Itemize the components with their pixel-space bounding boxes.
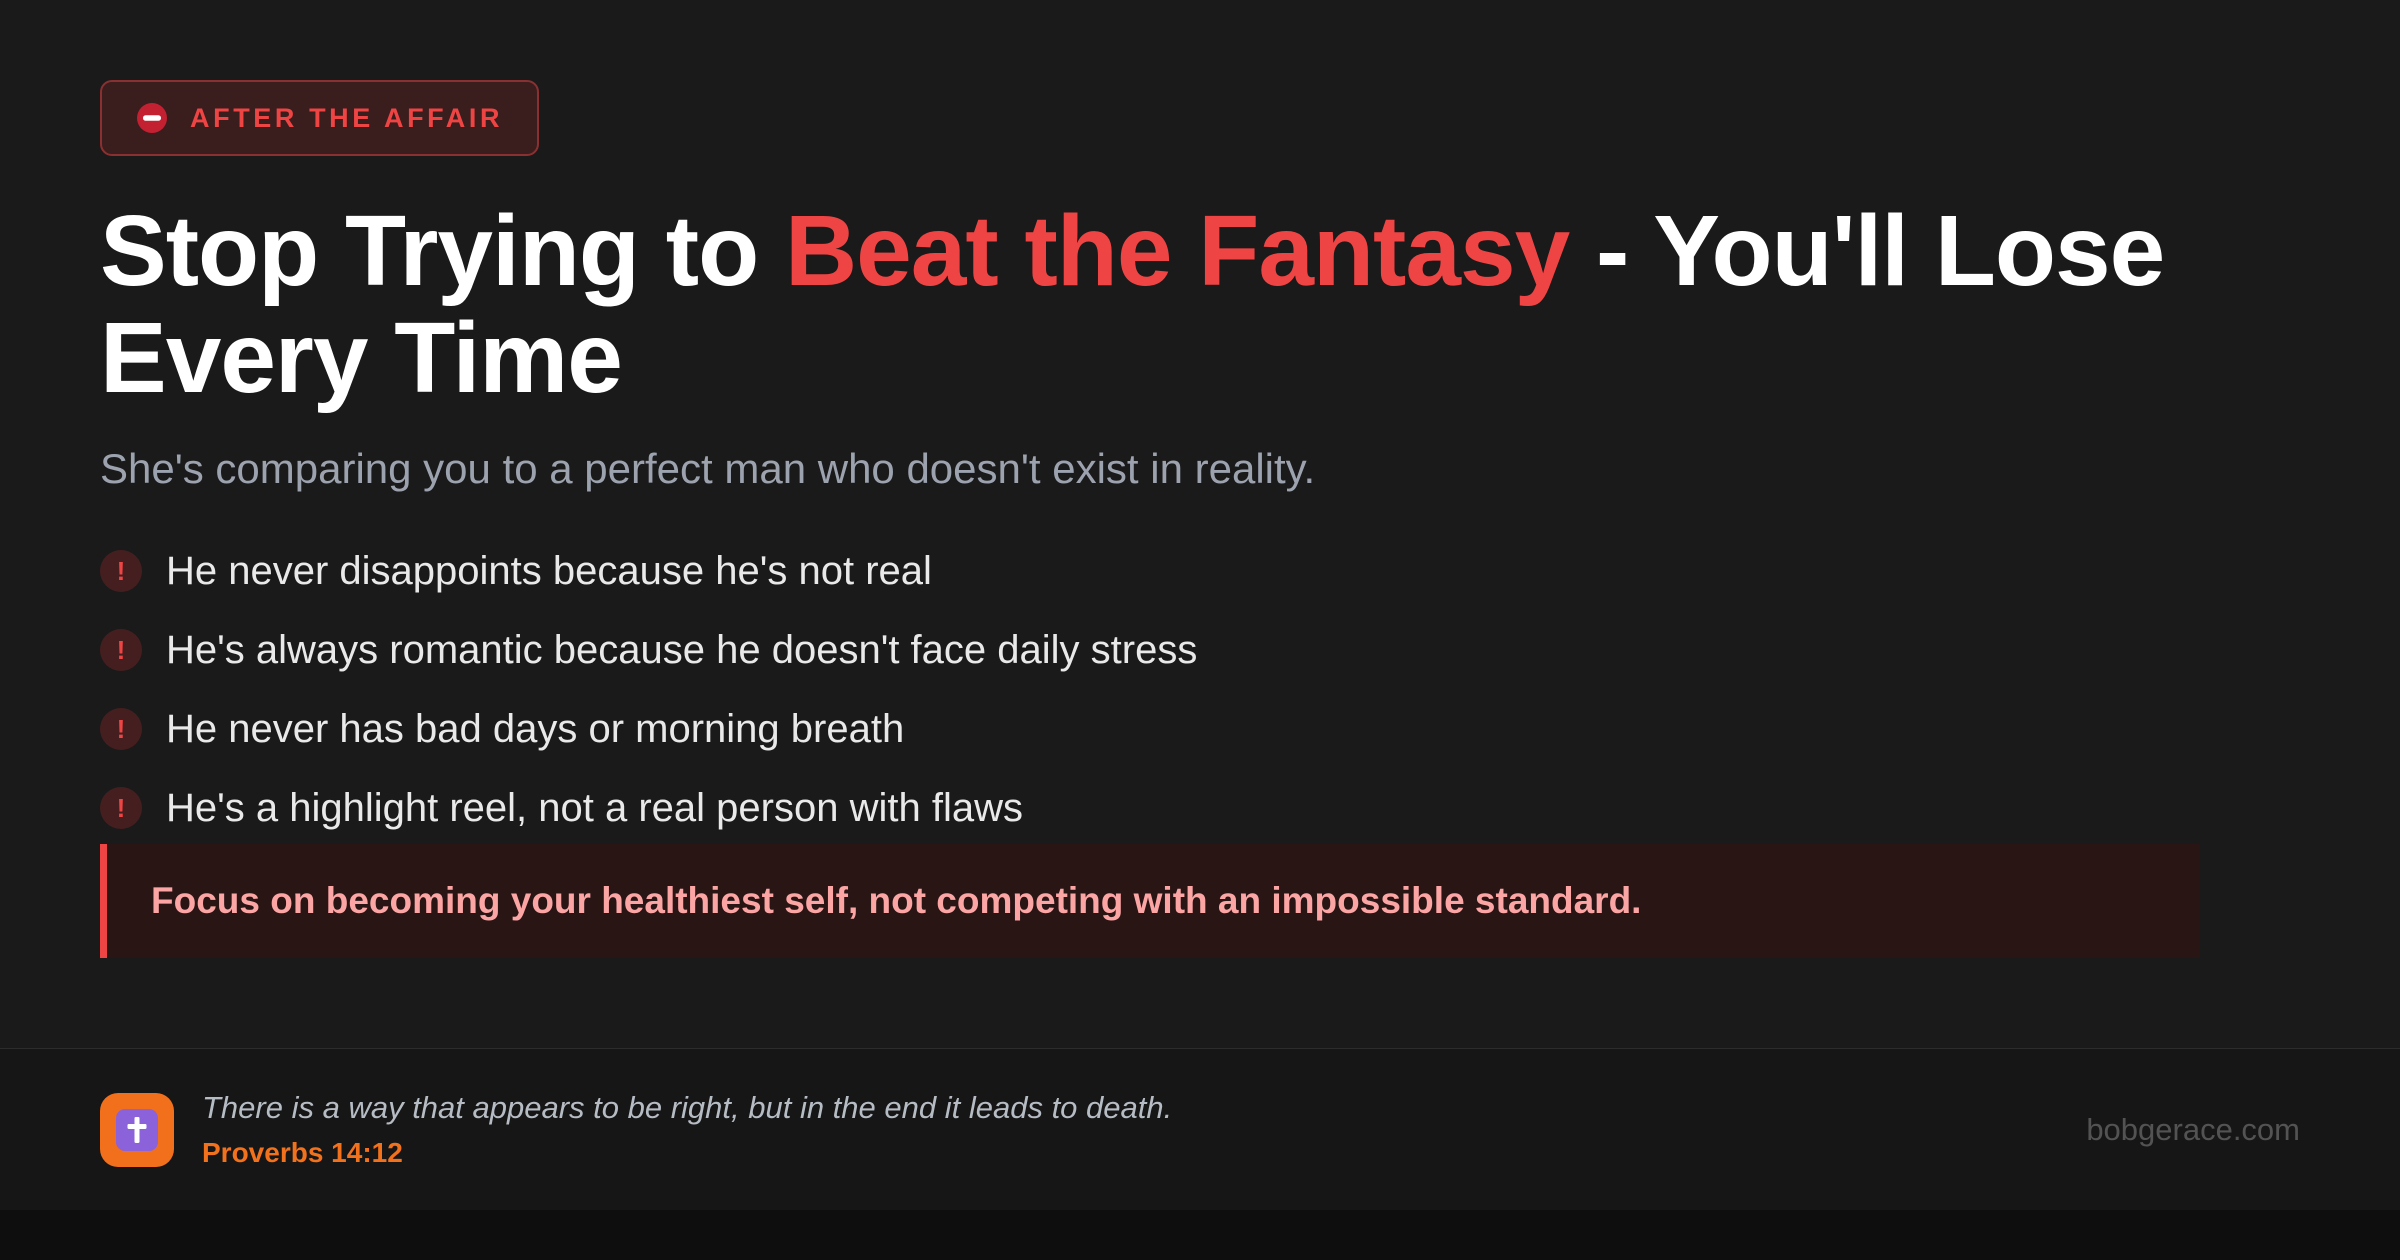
list-item: ! He never has bad days or morning breat… — [100, 705, 2300, 753]
bottom-band — [0, 1210, 2400, 1260]
list-item: ! He's always romantic because he doesn'… — [100, 626, 2300, 674]
category-badge[interactable]: AFTER THE AFFAIR — [100, 80, 539, 156]
takeaway-callout: Focus on becoming your healthiest self, … — [100, 844, 2200, 958]
bullet-list: ! He never disappoints because he's not … — [100, 547, 2300, 832]
cross-glyph — [124, 1115, 150, 1145]
list-item: ! He never disappoints because he's not … — [100, 547, 2300, 595]
headline-accent: Beat the Fantasy — [785, 195, 1569, 307]
slide-root: AFTER THE AFFAIR Stop Trying to Beat the… — [0, 0, 2400, 1260]
headline-part-1: Stop Trying to — [100, 195, 785, 307]
slide-body: AFTER THE AFFAIR Stop Trying to Beat the… — [0, 0, 2400, 958]
category-badge-label: AFTER THE AFFAIR — [190, 105, 503, 132]
page-subtitle: She's comparing you to a perfect man who… — [100, 442, 2300, 497]
site-watermark: bobgerace.com — [2086, 1112, 2300, 1148]
footer-verse-group: There is a way that appears to be right,… — [100, 1089, 2046, 1170]
verse-reference: Proverbs 14:12 — [202, 1136, 1172, 1170]
list-item-label: He never disappoints because he's not re… — [166, 547, 932, 595]
takeaway-callout-text: Focus on becoming your healthiest self, … — [151, 878, 2200, 924]
verse-block: There is a way that appears to be right,… — [202, 1089, 1172, 1170]
exclamation-icon: ! — [100, 629, 142, 671]
list-item: ! He's a highlight reel, not a real pers… — [100, 784, 2300, 832]
verse-text: There is a way that appears to be right,… — [202, 1089, 1172, 1126]
list-item-label: He's a highlight reel, not a real person… — [166, 784, 1023, 832]
no-entry-icon — [136, 102, 168, 134]
cross-icon-inner — [116, 1109, 158, 1151]
exclamation-icon: ! — [100, 550, 142, 592]
exclamation-icon: ! — [100, 708, 142, 750]
cross-icon — [100, 1093, 174, 1167]
page-title: Stop Trying to Beat the Fantasy - You'll… — [100, 198, 2230, 412]
exclamation-icon: ! — [100, 787, 142, 829]
list-item-label: He never has bad days or morning breath — [166, 705, 904, 753]
footer-bar: There is a way that appears to be right,… — [0, 1048, 2400, 1210]
list-item-label: He's always romantic because he doesn't … — [166, 626, 1197, 674]
